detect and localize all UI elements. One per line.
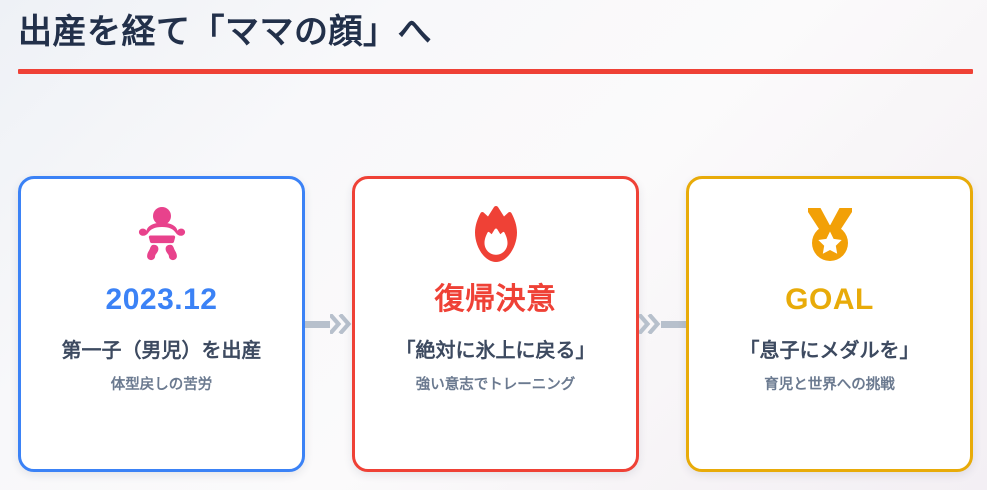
connector-2	[639, 176, 686, 472]
chevron-right-double-icon	[639, 314, 661, 334]
baby-icon	[136, 205, 188, 263]
card-quote: 「息子にメダルを」	[740, 339, 920, 363]
connector-1	[305, 176, 352, 472]
card-headline: 2023.12	[106, 285, 218, 315]
page-title: 出産を経て「ママの顔」へ	[18, 10, 973, 56]
timeline-cards-row: 2023.12 第一子（男児）を出産 体型戻しの苦労 復帰決意	[18, 176, 973, 472]
card-note: 育児と世界への挑戦	[764, 377, 895, 394]
infographic-slide: 出産を経て「ママの顔」へ 2023.12 第一子（男児）を出産 体型戻しの苦労	[0, 0, 987, 490]
card-comeback[interactable]: 復帰決意 「絶対に氷上に戻る」 強い意志でトレーニング	[352, 176, 639, 472]
card-headline: 復帰決意	[435, 285, 557, 315]
header: 出産を経て「ママの顔」へ	[18, 10, 973, 74]
card-note: 体型戻しの苦労	[111, 377, 213, 394]
fire-icon	[472, 205, 520, 263]
title-underline	[18, 69, 973, 74]
card-note: 強い意志でトレーニング	[416, 377, 576, 394]
card-headline: GOAL	[785, 285, 874, 315]
card-goal[interactable]: GOAL 「息子にメダルを」 育児と世界への挑戦	[686, 176, 973, 472]
card-quote: 「絶対に氷上に戻る」	[396, 339, 596, 363]
medal-icon	[804, 205, 856, 263]
card-quote: 第一子（男児）を出産	[62, 339, 262, 363]
connector-line	[305, 321, 330, 328]
connector-line	[661, 321, 686, 328]
card-birth[interactable]: 2023.12 第一子（男児）を出産 体型戻しの苦労	[18, 176, 305, 472]
chevron-right-double-icon	[330, 314, 352, 334]
